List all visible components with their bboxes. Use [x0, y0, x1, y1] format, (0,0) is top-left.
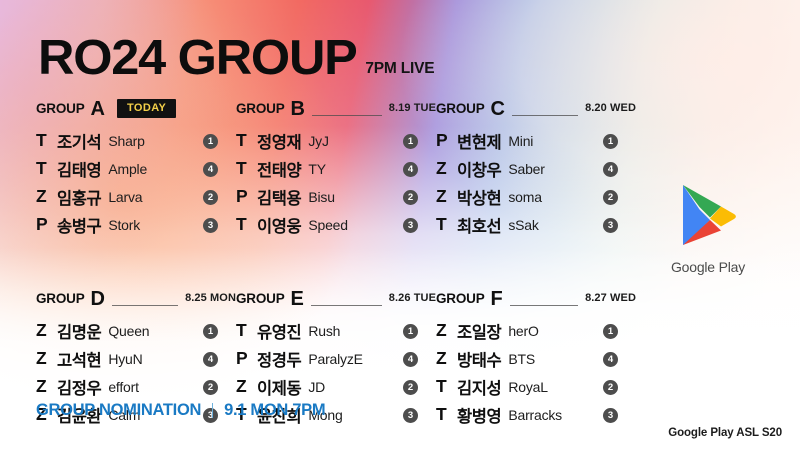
- player-row: Z 김명운 Queen 1: [36, 317, 236, 345]
- race-letter: Z: [436, 188, 457, 206]
- group-date: 8.20 WED: [585, 102, 636, 114]
- player-name: 조기석: [57, 129, 101, 153]
- player-row: Z 임홍규 Larva 2: [36, 183, 236, 211]
- player-name: 전태양: [257, 157, 301, 181]
- player-name: 유영진: [257, 319, 301, 343]
- player-row: Z 조일장 herO 1: [436, 317, 636, 345]
- seed-badge: 2: [603, 380, 618, 395]
- player-row: P 정경두 ParalyzE 4: [236, 345, 436, 373]
- race-letter: P: [436, 132, 457, 150]
- player-nick: herO: [508, 323, 538, 339]
- player-name: 고석현: [57, 347, 101, 371]
- player-list: T 조기석 Sharp 1 T 김태영 Ample 4 Z: [36, 127, 236, 239]
- race-letter: T: [36, 132, 57, 150]
- player-row: Z 방태수 BTS 4: [436, 345, 636, 373]
- group-letter: B: [291, 99, 305, 119]
- player-row: T 김태영 Ample 4: [36, 155, 236, 183]
- group-header: GROUP F 8.27 WED: [436, 288, 636, 308]
- player-nick: Sharp: [108, 133, 144, 149]
- race-letter: T: [236, 160, 257, 178]
- player-row: T 김지성 RoyaL 2: [436, 373, 636, 401]
- player-nick: Rush: [308, 323, 340, 339]
- player-nick: TY: [308, 161, 326, 177]
- player-nick: Ample: [108, 161, 147, 177]
- player-name: 최호선: [457, 213, 501, 237]
- player-row: Z 이제동 JD 2: [236, 373, 436, 401]
- poster-canvas: RO24 GROUP 7PM LIVE GROUP A TODAY T 조기석 …: [0, 0, 800, 450]
- group-date: 8.26 TUE: [389, 292, 436, 304]
- seed-badge: 2: [403, 380, 418, 395]
- google-play-triangle-icon: [677, 182, 739, 248]
- google-play-wordmark: Google Play: [648, 259, 768, 275]
- group-header: GROUP C 8.20 WED: [436, 98, 636, 118]
- race-letter: Z: [436, 350, 457, 368]
- player-name: 황병영: [457, 403, 501, 427]
- player-nick: soma: [508, 189, 541, 205]
- seed-badge: 4: [403, 352, 418, 367]
- seed-badge: 1: [603, 134, 618, 149]
- player-nick: effort: [108, 379, 138, 395]
- race-letter: Z: [436, 160, 457, 178]
- group-card-c: GROUP C 8.20 WED P 변현제 Mini 1 Z: [436, 98, 636, 239]
- player-list: T 정영재 JyJ 1 T 전태양 TY 4 P: [236, 127, 436, 239]
- page-title: RO24 GROUP: [38, 34, 357, 83]
- seed-badge: 3: [403, 218, 418, 233]
- player-name: 김태영: [57, 157, 101, 181]
- seed-badge: 4: [203, 352, 218, 367]
- player-nick: sSak: [508, 217, 538, 233]
- seed-badge: 2: [203, 190, 218, 205]
- race-letter: T: [436, 216, 457, 234]
- player-row: Z 고석현 HyuN 4: [36, 345, 236, 373]
- player-name: 송병구: [57, 213, 101, 237]
- race-letter: Z: [36, 378, 57, 396]
- group-header: GROUP D 8.25 MON: [36, 288, 236, 308]
- player-nick: JyJ: [308, 133, 328, 149]
- group-letter: C: [491, 99, 505, 119]
- nomination-label: GROUP NOMINATION: [36, 401, 201, 420]
- race-letter: P: [236, 350, 257, 368]
- race-letter: T: [436, 406, 457, 424]
- group-card-f: GROUP F 8.27 WED Z 조일장 herO 1 Z: [436, 288, 636, 429]
- player-nick: JD: [308, 379, 325, 395]
- player-name: 김지성: [457, 375, 501, 399]
- seed-badge: 4: [603, 352, 618, 367]
- seed-badge: 4: [203, 162, 218, 177]
- group-label: GROUP: [36, 291, 85, 306]
- player-row: T 유영진 Rush 1: [236, 317, 436, 345]
- group-card-b: GROUP B 8.19 TUE T 정영재 JyJ 1 T: [236, 98, 436, 239]
- player-row: P 변현제 Mini 1: [436, 127, 636, 155]
- nomination-date: 9.1 MON 7PM: [224, 401, 325, 420]
- player-name: 이영웅: [257, 213, 301, 237]
- player-nick: Barracks: [508, 407, 562, 423]
- player-name: 김정우: [57, 375, 101, 399]
- player-name: 방태수: [457, 347, 501, 371]
- footer-divider: [212, 403, 213, 418]
- player-nick: Queen: [108, 323, 149, 339]
- group-date: 8.27 WED: [585, 292, 636, 304]
- header-rule: [512, 115, 578, 116]
- race-letter: T: [236, 216, 257, 234]
- group-date: 8.25 MON: [185, 292, 236, 304]
- seed-badge: 4: [403, 162, 418, 177]
- group-letter: F: [491, 289, 503, 309]
- player-row: P 김택용 Bisu 2: [236, 183, 436, 211]
- header-rule: [311, 305, 382, 306]
- header-rule: [510, 305, 578, 306]
- seed-badge: 3: [603, 408, 618, 423]
- race-letter: T: [236, 132, 257, 150]
- race-letter: T: [36, 160, 57, 178]
- player-row: Z 김정우 effort 2: [36, 373, 236, 401]
- group-label: GROUP: [436, 101, 485, 116]
- seed-badge: 3: [603, 218, 618, 233]
- race-letter: Z: [36, 188, 57, 206]
- player-nick: Stork: [108, 217, 140, 233]
- player-name: 이제동: [257, 375, 301, 399]
- group-header: GROUP B 8.19 TUE: [236, 98, 436, 118]
- player-row: T 전태양 TY 4: [236, 155, 436, 183]
- header-rule: [112, 305, 178, 306]
- player-row: T 정영재 JyJ 1: [236, 127, 436, 155]
- seed-badge: 1: [403, 324, 418, 339]
- player-row: T 황병영 Barracks 3: [436, 401, 636, 429]
- title-row: RO24 GROUP 7PM LIVE: [38, 34, 434, 83]
- poster-content: RO24 GROUP 7PM LIVE GROUP A TODAY T 조기석 …: [0, 0, 800, 450]
- race-letter: Z: [36, 322, 57, 340]
- seed-badge: 1: [403, 134, 418, 149]
- group-header: GROUP A TODAY: [36, 98, 236, 118]
- race-letter: Z: [436, 322, 457, 340]
- group-letter: D: [91, 289, 105, 309]
- group-card-a: GROUP A TODAY T 조기석 Sharp 1 T 김: [36, 98, 236, 239]
- player-row: T 이영웅 Speed 3: [236, 211, 436, 239]
- player-list: P 변현제 Mini 1 Z 이창우 Saber 4 Z: [436, 127, 636, 239]
- footer-nomination: GROUP NOMINATION 9.1 MON 7PM: [36, 401, 325, 420]
- race-letter: T: [436, 378, 457, 396]
- player-row: Z 박상현 soma 2: [436, 183, 636, 211]
- footer-credit: Google Play ASL S20: [668, 427, 782, 439]
- race-letter: Z: [236, 378, 257, 396]
- seed-badge: 3: [203, 218, 218, 233]
- player-name: 변현제: [457, 129, 501, 153]
- player-nick: Bisu: [308, 189, 334, 205]
- seed-badge: 3: [403, 408, 418, 423]
- player-nick: RoyaL: [508, 379, 547, 395]
- player-name: 박상현: [457, 185, 501, 209]
- seed-badge: 1: [203, 324, 218, 339]
- player-name: 조일장: [457, 319, 501, 343]
- player-row: T 최호선 sSak 3: [436, 211, 636, 239]
- player-row: T 조기석 Sharp 1: [36, 127, 236, 155]
- today-badge: TODAY: [117, 99, 176, 118]
- player-name: 이창우: [457, 157, 501, 181]
- group-date: 8.19 TUE: [389, 102, 436, 114]
- live-time-label: 7PM LIVE: [365, 60, 434, 78]
- google-play-brand: Google Play: [648, 182, 768, 275]
- player-name: 김택용: [257, 185, 301, 209]
- player-list: Z 조일장 herO 1 Z 방태수 BTS 4 T: [436, 317, 636, 429]
- group-header: GROUP E 8.26 TUE: [236, 288, 436, 308]
- group-label: GROUP: [236, 291, 285, 306]
- group-label: GROUP: [36, 101, 85, 116]
- player-name: 김명운: [57, 319, 101, 343]
- player-nick: ParalyzE: [308, 351, 362, 367]
- seed-badge: 2: [403, 190, 418, 205]
- group-letter: E: [291, 289, 304, 309]
- group-row-top: GROUP A TODAY T 조기석 Sharp 1 T 김: [36, 98, 636, 239]
- group-label: GROUP: [236, 101, 285, 116]
- player-name: 정경두: [257, 347, 301, 371]
- seed-badge: 1: [203, 134, 218, 149]
- seed-badge: 2: [203, 380, 218, 395]
- race-letter: T: [236, 322, 257, 340]
- group-grid: GROUP A TODAY T 조기석 Sharp 1 T 김: [36, 98, 636, 429]
- seed-badge: 4: [603, 162, 618, 177]
- header-rule: [312, 115, 382, 116]
- player-nick: Saber: [508, 161, 544, 177]
- player-row: P 송병구 Stork 3: [36, 211, 236, 239]
- player-name: 임홍규: [57, 185, 101, 209]
- player-nick: BTS: [508, 351, 535, 367]
- race-letter: P: [236, 188, 257, 206]
- player-nick: Mini: [508, 133, 533, 149]
- player-nick: Speed: [308, 217, 347, 233]
- seed-badge: 1: [603, 324, 618, 339]
- race-letter: Z: [36, 350, 57, 368]
- player-nick: HyuN: [108, 351, 142, 367]
- player-name: 정영재: [257, 129, 301, 153]
- group-label: GROUP: [436, 291, 485, 306]
- player-row: Z 이창우 Saber 4: [436, 155, 636, 183]
- group-letter: A: [91, 99, 105, 119]
- race-letter: P: [36, 216, 57, 234]
- seed-badge: 2: [603, 190, 618, 205]
- player-nick: Larva: [108, 189, 142, 205]
